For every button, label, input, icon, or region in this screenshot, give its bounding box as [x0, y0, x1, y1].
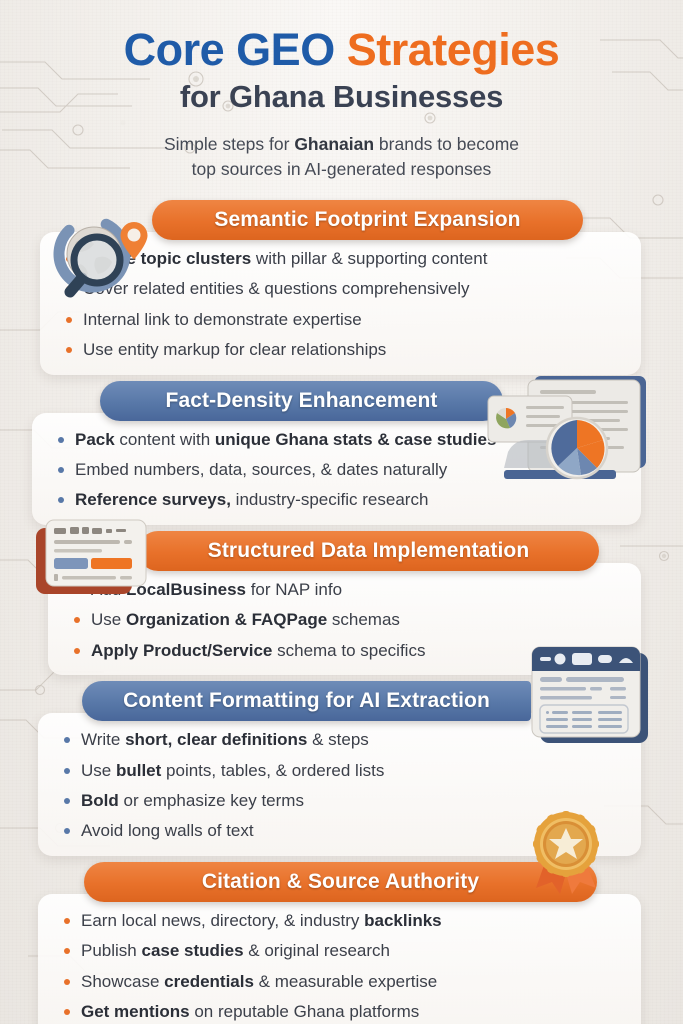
list-item: Cover related entities & questions compr…: [64, 277, 621, 301]
list-item: Publish case studies & original research: [62, 939, 621, 963]
list-item: Use Organization & FAQPage schemas: [72, 608, 621, 632]
page-title: Core GEO Strategies: [0, 26, 683, 73]
infographic-poster: Core GEO Strategies for Ghana Businesses…: [0, 0, 683, 1024]
list-item: Earn local news, directory, & industry b…: [62, 909, 621, 933]
section-citation-and-source-authority: Citation & Source Authority Earn local n…: [0, 862, 683, 1024]
list-item: Use entity markup for clear relationship…: [64, 338, 621, 362]
list-item: Showcase credentials & measurable expert…: [62, 970, 621, 994]
section-5-bullet-list: Earn local news, directory, & industry b…: [62, 909, 621, 1024]
list-item: Create topic clusters with pillar & supp…: [64, 247, 621, 271]
strategy-sections: Semantic Footprint Expansion Create topi…: [0, 200, 683, 1024]
section-fact-density-enhancement: Fact-Density Enhancement Pack content wi…: [0, 381, 683, 525]
page-subtitle-line: for Ghana Businesses: [0, 79, 683, 115]
section-4-card: Write short, clear definitions & steps U…: [38, 713, 641, 856]
page-description: Simple steps for Ghanaian brands to beco…: [0, 132, 683, 182]
description-highlight-ghanaian: Ghanaian: [294, 134, 374, 154]
section-semantic-footprint-expansion: Semantic Footprint Expansion Create topi…: [0, 200, 683, 375]
list-item: Embed numbers, data, sources, & dates na…: [56, 458, 621, 482]
section-content-formatting-for-ai-extraction: Content Formatting for AI Extraction Wri…: [0, 681, 683, 856]
description-line2: top sources in AI-generated responses: [192, 159, 492, 179]
list-item: Apply Product/Service schema to specific…: [72, 639, 621, 663]
section-4-bullet-list: Write short, clear definitions & steps U…: [62, 728, 621, 843]
section-1-header: Semantic Footprint Expansion: [152, 200, 583, 240]
list-item: Reference surveys, industry-specific res…: [56, 488, 621, 512]
section-3-card: Add LocalBusiness for NAP info Use Organ…: [48, 563, 641, 675]
description-line1-a: Simple steps for: [164, 134, 294, 154]
list-item: Add LocalBusiness for NAP info: [72, 578, 621, 602]
section-3-header: Structured Data Implementation: [138, 531, 599, 571]
list-item: Internal link to demonstrate expertise: [64, 308, 621, 332]
section-2-card: Pack content with unique Ghana stats & c…: [32, 413, 641, 525]
section-2-header: Fact-Density Enhancement: [100, 381, 503, 421]
section-5-card: Earn local news, directory, & industry b…: [38, 894, 641, 1024]
title-part-core-geo: Core GEO: [124, 24, 347, 75]
section-4-header: Content Formatting for AI Extraction: [82, 681, 531, 721]
list-item: Use bullet points, tables, & ordered lis…: [62, 759, 621, 783]
list-item: Avoid long walls of text: [62, 819, 621, 843]
list-item: Write short, clear definitions & steps: [62, 728, 621, 752]
section-1-bullet-list: Create topic clusters with pillar & supp…: [64, 247, 621, 362]
poster-header: Core GEO Strategies for Ghana Businesses…: [0, 0, 683, 182]
list-item: Pack content with unique Ghana stats & c…: [56, 428, 621, 452]
description-line1-c: brands to become: [374, 134, 519, 154]
list-item: Get mentions on reputable Ghana platform…: [62, 1000, 621, 1024]
section-1-card: Create topic clusters with pillar & supp…: [40, 232, 641, 375]
section-structured-data-implementation: Structured Data Implementation Add Local…: [0, 531, 683, 675]
section-5-header: Citation & Source Authority: [84, 862, 597, 902]
list-item: Bold or emphasize key terms: [62, 789, 621, 813]
section-2-bullet-list: Pack content with unique Ghana stats & c…: [56, 428, 621, 512]
title-part-strategies: Strategies: [347, 24, 560, 75]
section-3-bullet-list: Add LocalBusiness for NAP info Use Organ…: [72, 578, 621, 662]
